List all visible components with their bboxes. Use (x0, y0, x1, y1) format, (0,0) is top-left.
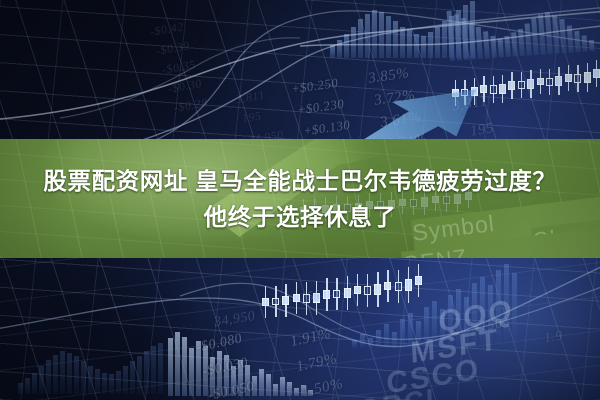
headline-line-1: 股票配资网址 皇马全能战士巴尔韦德疲劳过度？ (43, 166, 556, 196)
quote-value: 195 (242, 108, 262, 126)
quote-value: 155 (300, 286, 321, 305)
headline-text-block: 股票配资网址 皇马全能战士巴尔韦德疲劳过度？ 他终于选择休息了 (0, 139, 600, 258)
quote-value: 1.9 (544, 328, 563, 347)
headline-line-2: 他终于选择休息了 (204, 202, 397, 232)
news-banner-image: +$0.250+$0.230+$0.130+$0.0403.85%3.72%3.… (0, 0, 600, 400)
